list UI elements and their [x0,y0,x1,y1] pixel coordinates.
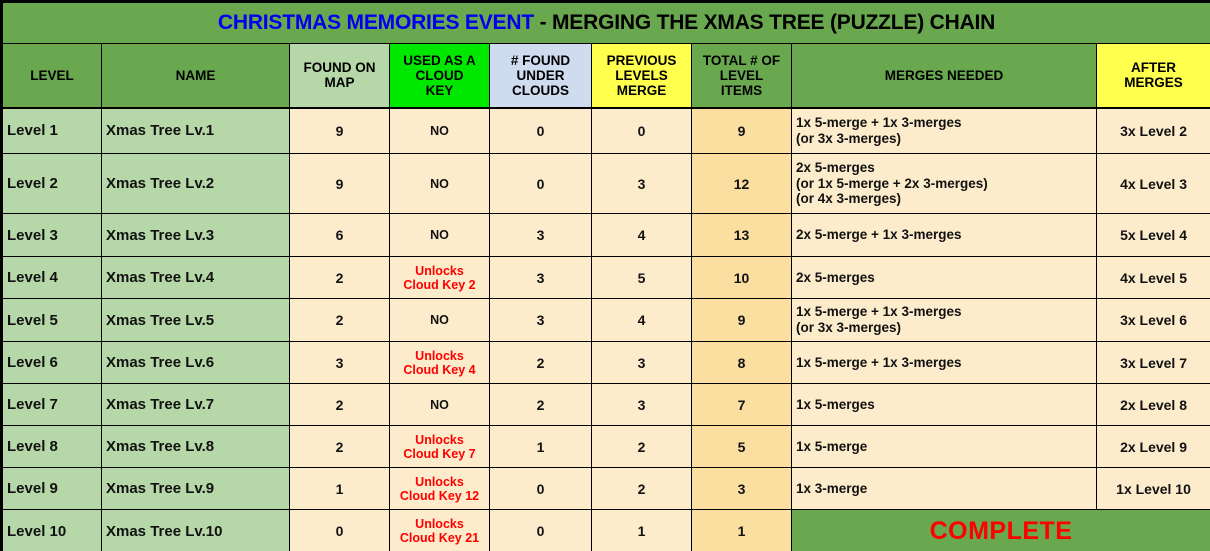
cell-previous-levels-merge[interactable]: 2 [592,468,692,510]
cell-found-under-clouds[interactable]: 0 [490,154,592,214]
cell-previous-levels-merge[interactable]: 0 [592,108,692,154]
column-header-prev[interactable]: PREVIOUS LEVELS MERGE [592,44,692,108]
cell-name[interactable]: Xmas Tree Lv.2 [102,154,290,214]
cell-cloud-key[interactable]: Unlocks Cloud Key 12 [390,468,490,510]
cell-complete-banner: COMPLETE [792,510,1210,551]
cell-previous-levels-merge[interactable]: 3 [592,342,692,384]
cell-cloud-key[interactable]: Unlocks Cloud Key 7 [390,426,490,468]
table-row: Level 2Xmas Tree Lv.29NO03122x 5-merges … [2,154,1210,214]
cell-found-on-map[interactable]: 2 [290,384,390,426]
cell-found-under-clouds[interactable]: 0 [490,510,592,551]
title-row: CHRISTMAS MEMORIES EVENT - MERGING THE X… [2,2,1210,44]
column-header-total[interactable]: TOTAL # OF LEVEL ITEMS [692,44,792,108]
cell-total-level-items[interactable]: 9 [692,299,792,342]
column-header-cloudkey[interactable]: USED AS A CLOUD KEY [390,44,490,108]
cell-name[interactable]: Xmas Tree Lv.9 [102,468,290,510]
cell-total-level-items[interactable]: 10 [692,257,792,299]
cell-cloud-key[interactable]: NO [390,214,490,257]
cell-level[interactable]: Level 10 [2,510,102,551]
table-row: Level 5Xmas Tree Lv.52NO3491x 5-merge + … [2,299,1210,342]
cell-cloud-key[interactable]: NO [390,154,490,214]
cell-cloud-key[interactable]: Unlocks Cloud Key 4 [390,342,490,384]
cell-name[interactable]: Xmas Tree Lv.1 [102,108,290,154]
cell-level[interactable]: Level 6 [2,342,102,384]
cell-total-level-items[interactable]: 12 [692,154,792,214]
cell-name[interactable]: Xmas Tree Lv.8 [102,426,290,468]
cell-merges-needed[interactable]: 2x 5-merges [792,257,1097,299]
table-row: Level 7Xmas Tree Lv.72NO2371x 5-merges2x… [2,384,1210,426]
cell-found-on-map[interactable]: 6 [290,214,390,257]
cell-found-on-map[interactable]: 3 [290,342,390,384]
table-row: Level 10Xmas Tree Lv.100Unlocks Cloud Ke… [2,510,1210,551]
cell-merges-needed[interactable]: 1x 5-merge + 1x 3-merges [792,342,1097,384]
cell-previous-levels-merge[interactable]: 3 [592,384,692,426]
cell-found-under-clouds[interactable]: 3 [490,214,592,257]
cell-found-on-map[interactable]: 2 [290,426,390,468]
cell-found-on-map[interactable]: 2 [290,257,390,299]
cell-found-under-clouds[interactable]: 2 [490,384,592,426]
cell-total-level-items[interactable]: 7 [692,384,792,426]
cell-cloud-key[interactable]: NO [390,108,490,154]
cell-cloud-key[interactable]: NO [390,299,490,342]
cell-level[interactable]: Level 5 [2,299,102,342]
cell-merges-needed[interactable]: 1x 5-merge + 1x 3-merges (or 3x 3-merges… [792,299,1097,342]
cell-cloud-key[interactable]: Unlocks Cloud Key 21 [390,510,490,551]
cell-level[interactable]: Level 8 [2,426,102,468]
table-row: Level 9Xmas Tree Lv.91Unlocks Cloud Key … [2,468,1210,510]
page-title: CHRISTMAS MEMORIES EVENT - MERGING THE X… [2,2,1210,44]
cell-total-level-items[interactable]: 3 [692,468,792,510]
cell-merges-needed[interactable]: 1x 5-merges [792,384,1097,426]
cell-name[interactable]: Xmas Tree Lv.4 [102,257,290,299]
cell-cloud-key[interactable]: Unlocks Cloud Key 2 [390,257,490,299]
cell-level[interactable]: Level 4 [2,257,102,299]
cell-level[interactable]: Level 7 [2,384,102,426]
cell-name[interactable]: Xmas Tree Lv.5 [102,299,290,342]
cell-previous-levels-merge[interactable]: 1 [592,510,692,551]
cell-name[interactable]: Xmas Tree Lv.6 [102,342,290,384]
cell-merges-needed[interactable]: 2x 5-merges (or 1x 5-merge + 2x 3-merges… [792,154,1097,214]
cell-total-level-items[interactable]: 1 [692,510,792,551]
table-row: Level 3Xmas Tree Lv.36NO34132x 5-merge +… [2,214,1210,257]
column-header-level[interactable]: LEVEL [2,44,102,108]
cell-total-level-items[interactable]: 5 [692,426,792,468]
xmas-tree-chain-table: CHRISTMAS MEMORIES EVENT - MERGING THE X… [0,0,1210,551]
cell-found-under-clouds[interactable]: 0 [490,468,592,510]
cell-found-on-map[interactable]: 0 [290,510,390,551]
cell-total-level-items[interactable]: 8 [692,342,792,384]
cell-total-level-items[interactable]: 13 [692,214,792,257]
cell-previous-levels-merge[interactable]: 4 [592,214,692,257]
title-subject: - MERGING THE XMAS TREE (PUZZLE) CHAIN [534,11,995,34]
cell-after-merges[interactable]: 4x Level 3 [1097,154,1210,214]
cell-found-on-map[interactable]: 1 [290,468,390,510]
cell-name[interactable]: Xmas Tree Lv.10 [102,510,290,551]
cell-level[interactable]: Level 9 [2,468,102,510]
spreadsheet-sheet: CHRISTMAS MEMORIES EVENT - MERGING THE X… [0,0,1210,551]
cell-merges-needed[interactable]: 1x 5-merge + 1x 3-merges (or 3x 3-merges… [792,108,1097,154]
cell-after-merges[interactable]: 3x Level 7 [1097,342,1210,384]
cell-name[interactable]: Xmas Tree Lv.3 [102,214,290,257]
title-event-name: CHRISTMAS MEMORIES EVENT [218,11,534,34]
column-header-clouds[interactable]: # FOUND UNDER CLOUDS [490,44,592,108]
table-row: Level 6Xmas Tree Lv.63Unlocks Cloud Key … [2,342,1210,384]
cell-merges-needed[interactable]: 2x 5-merge + 1x 3-merges [792,214,1097,257]
cell-after-merges[interactable]: 1x Level 10 [1097,468,1210,510]
cell-previous-levels-merge[interactable]: 3 [592,154,692,214]
cell-after-merges[interactable]: 4x Level 5 [1097,257,1210,299]
cell-merges-needed[interactable]: 1x 3-merge [792,468,1097,510]
cell-after-merges[interactable]: 3x Level 6 [1097,299,1210,342]
table-body: CHRISTMAS MEMORIES EVENT - MERGING THE X… [2,2,1210,551]
cell-found-on-map[interactable]: 2 [290,299,390,342]
table-row: Level 1Xmas Tree Lv.19NO0091x 5-merge + … [2,108,1210,154]
header-row: LEVELNAMEFOUND ON MAPUSED AS A CLOUD KEY… [2,44,1210,108]
cell-previous-levels-merge[interactable]: 4 [592,299,692,342]
column-header-found[interactable]: FOUND ON MAP [290,44,390,108]
column-header-name[interactable]: NAME [102,44,290,108]
column-header-after[interactable]: AFTER MERGES [1097,44,1210,108]
table-row: Level 4Xmas Tree Lv.42Unlocks Cloud Key … [2,257,1210,299]
cell-level[interactable]: Level 1 [2,108,102,154]
table-row: Level 8Xmas Tree Lv.82Unlocks Cloud Key … [2,426,1210,468]
cell-found-on-map[interactable]: 9 [290,108,390,154]
cell-found-under-clouds[interactable]: 3 [490,257,592,299]
cell-previous-levels-merge[interactable]: 2 [592,426,692,468]
cell-total-level-items[interactable]: 9 [692,108,792,154]
cell-found-on-map[interactable]: 9 [290,154,390,214]
cell-found-under-clouds[interactable]: 1 [490,426,592,468]
cell-found-under-clouds[interactable]: 0 [490,108,592,154]
cell-after-merges[interactable]: 2x Level 8 [1097,384,1210,426]
cell-previous-levels-merge[interactable]: 5 [592,257,692,299]
cell-found-under-clouds[interactable]: 2 [490,342,592,384]
cell-cloud-key[interactable]: NO [390,384,490,426]
cell-merges-needed[interactable]: 1x 5-merge [792,426,1097,468]
cell-level[interactable]: Level 2 [2,154,102,214]
cell-after-merges[interactable]: 2x Level 9 [1097,426,1210,468]
cell-level[interactable]: Level 3 [2,214,102,257]
cell-name[interactable]: Xmas Tree Lv.7 [102,384,290,426]
cell-after-merges[interactable]: 5x Level 4 [1097,214,1210,257]
column-header-merges[interactable]: MERGES NEEDED [792,44,1097,108]
cell-after-merges[interactable]: 3x Level 2 [1097,108,1210,154]
cell-found-under-clouds[interactable]: 3 [490,299,592,342]
